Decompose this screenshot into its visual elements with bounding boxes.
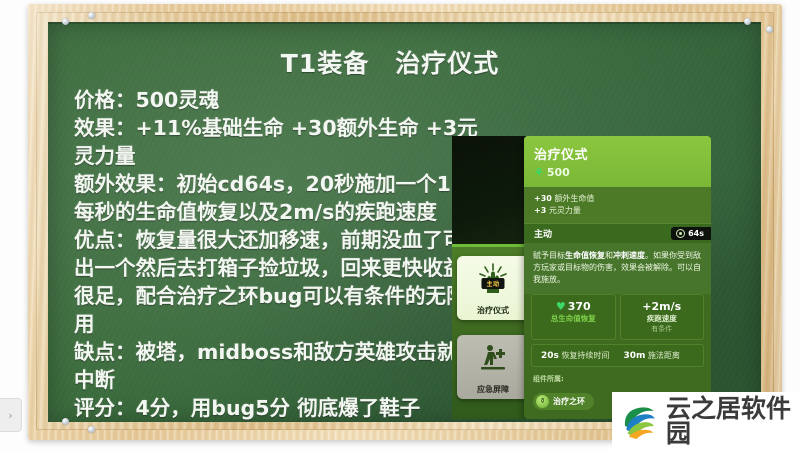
component-chip-healing-booster[interactable]: ⚱ 治疗之环	[533, 393, 594, 410]
frame-screw	[62, 18, 69, 25]
chalk-line-rating: 评分：4分，用bug5分 彻底爆了鞋子	[60, 394, 490, 422]
stat-box-sprint: +2m/s 疾跑速度 有条件	[620, 294, 705, 340]
frame-screw	[62, 418, 69, 425]
stat-duration: 20s 恢复持续时间	[541, 350, 609, 361]
stat-value: +2m/s	[623, 300, 702, 313]
healing-booster-icon: ⚱	[536, 395, 549, 408]
item-tile-label: 应急屏障	[477, 385, 509, 395]
active-ability-label: 主动	[534, 227, 552, 240]
watermark: 云之居软件园	[612, 392, 800, 450]
stat-duration-value: 20s	[541, 351, 559, 361]
soul-currency-icon: ⚘	[534, 167, 544, 178]
desc-seg-bold: 生命值恢复	[565, 251, 605, 260]
card-header: 治疗仪式 ⚘ 500	[524, 136, 711, 187]
stat-label: 总生命值恢复	[534, 313, 613, 324]
card-description: 赋予目标生命值恢复和冲刺速度。如果你受到敌方玩家或目标物的伤害，效果会被解除。可…	[524, 243, 711, 294]
desc-seg: 赋予目标	[533, 251, 565, 260]
item-tile-emergency-shield[interactable]: 应急屏障	[457, 335, 529, 399]
watermark-text: 云之居软件园	[666, 396, 800, 446]
screenshot-root: › T1装备 治疗仪式 价格：500灵魂 效果：+11%基础生命 +30额外生命…	[0, 0, 800, 450]
passive-value: +3	[534, 206, 546, 215]
page-title: T1装备 治疗仪式	[60, 44, 750, 80]
card-price-value: 500	[547, 166, 570, 179]
stat-label: 疾跑速度	[623, 313, 702, 324]
item-tooltip-card: 治疗仪式 ⚘ 500 +30 额外生命值 +3 元灵力量 主动	[524, 136, 711, 419]
frame-screw	[88, 12, 95, 19]
heart-icon: ♥	[556, 300, 566, 313]
chalk-line-price: 价格：500灵魂	[60, 86, 490, 114]
card-stat-boxes: ♥370 总生命值恢复 +2m/s 疾跑速度 有条件	[524, 294, 711, 340]
card-title: 治疗仪式	[534, 144, 701, 163]
card-passive-stats: +30 额外生命值 +3 元灵力量	[524, 187, 711, 223]
cooldown-badge: 64s	[671, 227, 711, 240]
stat-range-label: 施法距离	[648, 351, 680, 360]
chevron-right-icon: ›	[8, 410, 12, 421]
item-tile-label: 治疗仪式	[477, 306, 509, 316]
chalk-line-extra: 额外效果：初始cd64s，20秒施加一个18.5每秒的生命值恢复以及2m/s的疾…	[60, 170, 490, 226]
stat-condition: 有条件	[623, 324, 702, 334]
yunzhiju-swoosh-logo	[620, 401, 660, 441]
passive-label: 元灵力量	[549, 206, 581, 215]
stat-range: 30m 施法距离	[623, 350, 679, 361]
stat-duration-label: 恢复持续时间	[561, 351, 609, 360]
cooldown-value: 64s	[688, 229, 704, 238]
passive-value: +30	[534, 194, 552, 203]
component-section-label: 组件所属:	[533, 374, 702, 384]
card-active-bar: 主动 64s	[524, 223, 711, 243]
game-screenshot-overlay: 主动 治疗仪式 应急屏障	[452, 136, 711, 419]
component-name: 治疗之环	[553, 396, 585, 407]
frame-screw	[744, 18, 751, 25]
frame-screw	[766, 26, 773, 33]
chalk-line-cons: 缺点：被塔，midboss和敌方英雄攻击就会中断	[60, 338, 490, 394]
stat-box-healing: ♥370 总生命值恢复	[531, 294, 616, 340]
sidebar-expand-tab[interactable]: ›	[0, 398, 22, 432]
stat-value-row: ♥370	[534, 300, 613, 313]
chalk-line-pros: 优点：恢复量很大还加移速，前期没血了可以出一个然后去打箱子捡垃圾，回来更快收益也…	[60, 226, 490, 338]
item-badge-active: 主动	[481, 278, 504, 289]
cooldown-clock-icon	[676, 229, 685, 238]
chalk-line-effect: 效果：+11%基础生命 +30额外生命 +3元灵力量	[60, 114, 490, 170]
stat-range-value: 30m	[623, 351, 645, 361]
stat-value: 370	[568, 300, 591, 313]
desc-seg: 和	[605, 251, 613, 260]
passive-label: 额外生命值	[554, 194, 594, 203]
passive-stat-row: +30 额外生命值	[534, 193, 701, 205]
frame-screw	[88, 426, 95, 433]
item-tile-healing-rite[interactable]: 主动 治疗仪式	[457, 256, 529, 320]
desc-seg-bold: 冲刺速度	[613, 251, 645, 260]
card-price-row: ⚘ 500	[534, 166, 701, 179]
emergency-shield-icon	[457, 339, 529, 377]
card-stat-secondary-row: 20s 恢复持续时间 30m 施法距离	[531, 344, 704, 367]
passive-stat-row: +3 元灵力量	[534, 205, 701, 217]
